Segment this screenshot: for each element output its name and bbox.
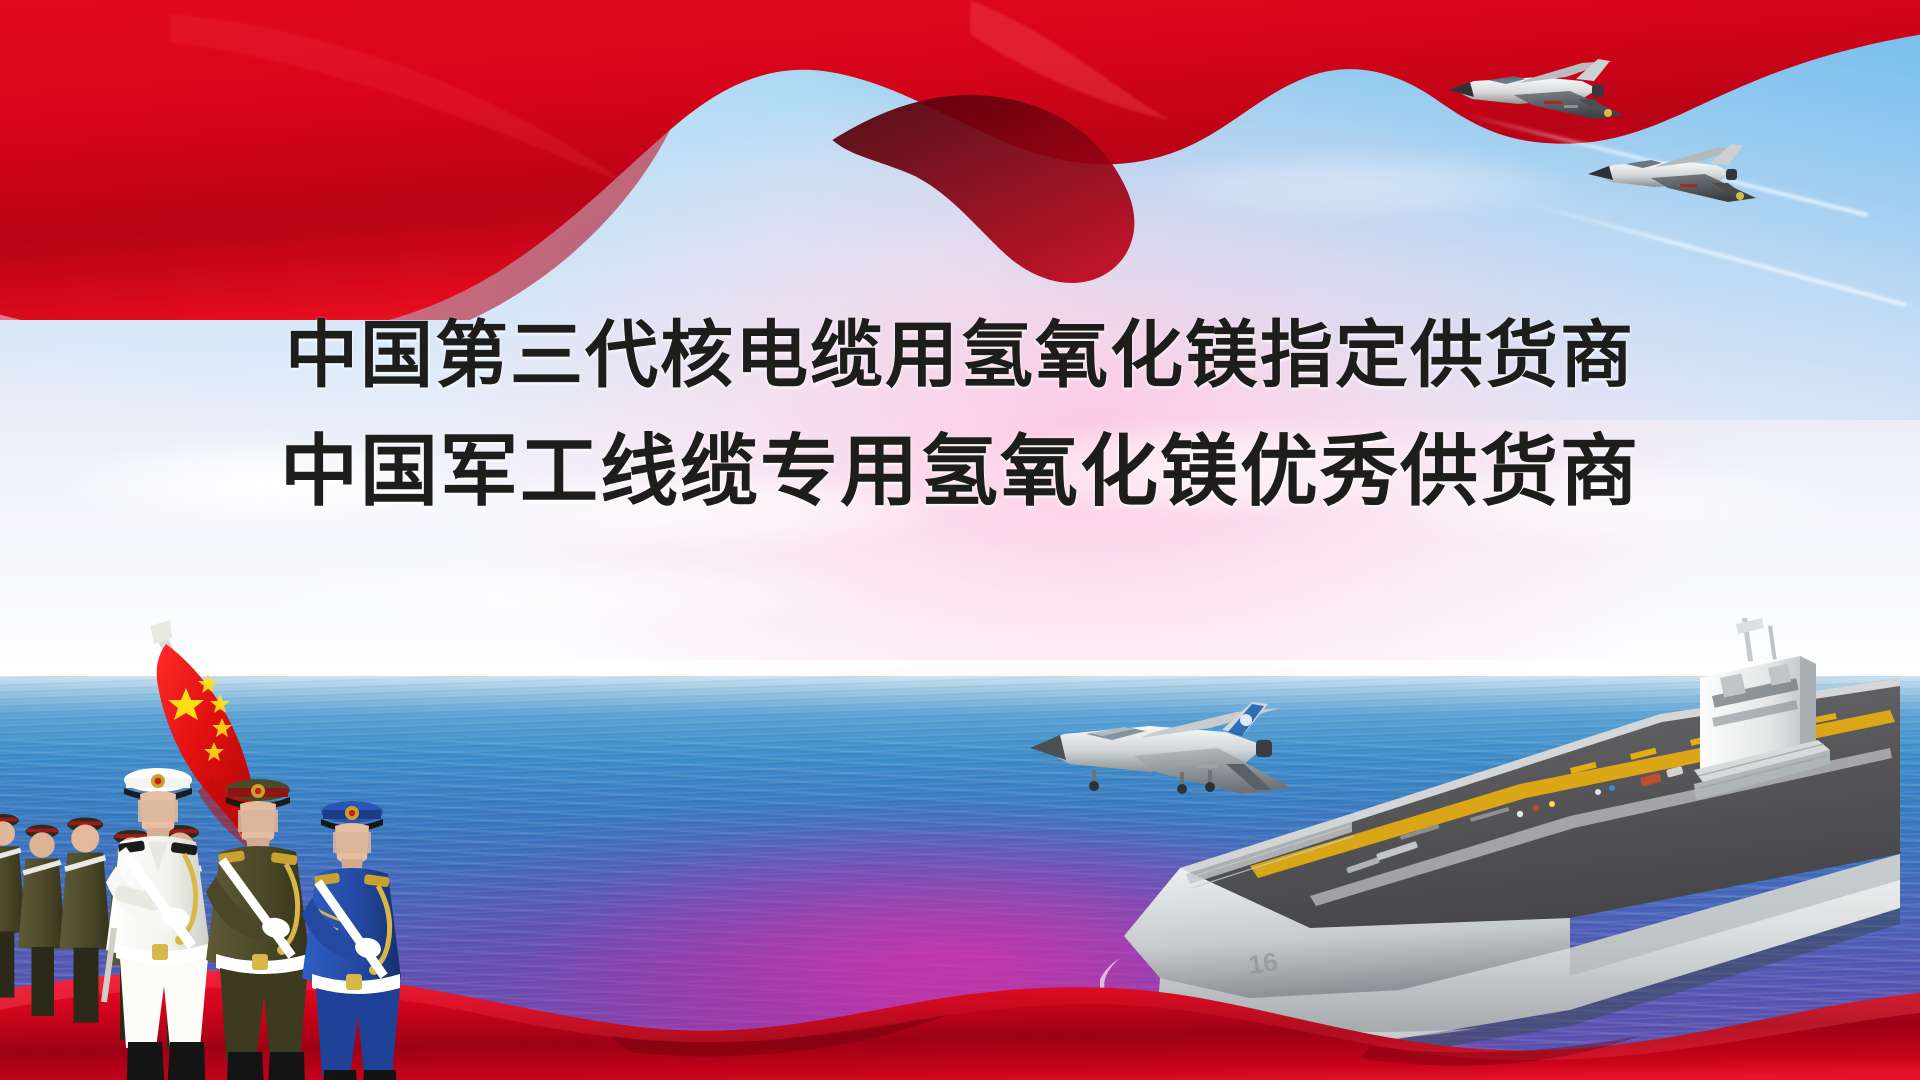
guard-army-officer: [206, 779, 310, 1080]
title-block: 中国第三代核电缆用氢氧化镁指定供货商 中国军工线缆专用氢氧化镁优秀供货商: [0, 300, 1920, 530]
title-line-1: 中国第三代核电缆用氢氧化镁指定供货商: [0, 300, 1920, 412]
fighter-jet-lower: [1588, 140, 1758, 228]
banner-image: 16: [0, 0, 1920, 1080]
honor-guard-formation: [0, 600, 500, 1080]
guard-airforce-officer: [302, 801, 401, 1080]
carrier-deck-jet: [1030, 690, 1310, 820]
fighter-jet-upper: [1448, 55, 1628, 147]
guard-navy-officer: [104, 768, 210, 1080]
title-line-2: 中国军工线缆专用氢氧化镁优秀供货商: [0, 412, 1920, 530]
